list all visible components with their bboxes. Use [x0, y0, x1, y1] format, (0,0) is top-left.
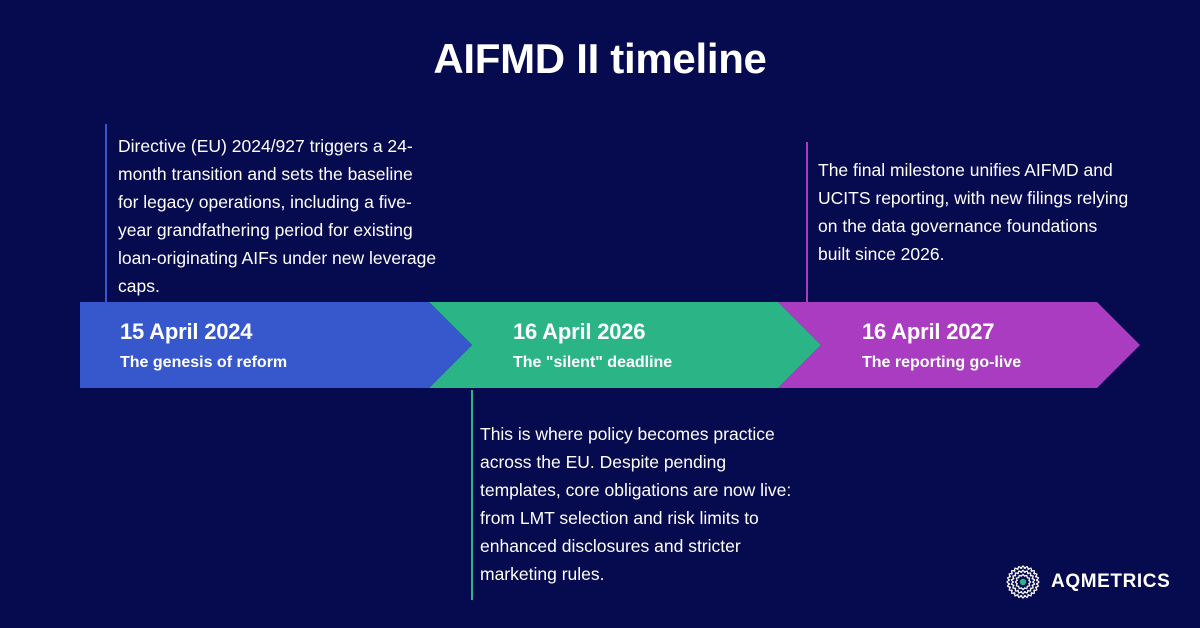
milestone-caption-1: The genesis of reform: [120, 354, 472, 372]
callout-text-milestone-3: The final milestone unifies AIFMD and UC…: [818, 156, 1130, 268]
milestone-caption-2: The "silent" deadline: [513, 354, 821, 372]
connector-line-milestone-3: [806, 142, 808, 302]
connector-line-milestone-2: [471, 390, 473, 600]
connector-line-milestone-1: [105, 124, 107, 302]
milestone-date-3: 16 April 2027: [862, 319, 1140, 345]
timeline-band: 15 April 2024 The genesis of reform 16 A…: [80, 302, 1140, 388]
infographic-canvas: AIFMD II timeline Directive (EU) 2024/92…: [0, 0, 1200, 628]
timeline-segment-2[interactable]: 16 April 2026 The "silent" deadline: [429, 302, 821, 388]
brand-logo: AQMETRICS: [1004, 563, 1170, 601]
milestone-date-2: 16 April 2026: [513, 319, 821, 345]
timeline-segment-3[interactable]: 16 April 2027 The reporting go-live: [778, 302, 1140, 388]
page-title: AIFMD II timeline: [0, 33, 1200, 85]
milestone-date-1: 15 April 2024: [120, 319, 472, 345]
timeline-segment-1[interactable]: 15 April 2024 The genesis of reform: [80, 302, 472, 388]
callout-text-milestone-2: This is where policy becomes practice ac…: [480, 420, 800, 588]
logo-wordmark: AQMETRICS: [1051, 571, 1170, 593]
aqmetrics-burst-icon: [1004, 563, 1042, 601]
milestone-caption-3: The reporting go-live: [862, 354, 1140, 372]
callout-text-milestone-1: Directive (EU) 2024/927 triggers a 24-mo…: [118, 132, 438, 300]
